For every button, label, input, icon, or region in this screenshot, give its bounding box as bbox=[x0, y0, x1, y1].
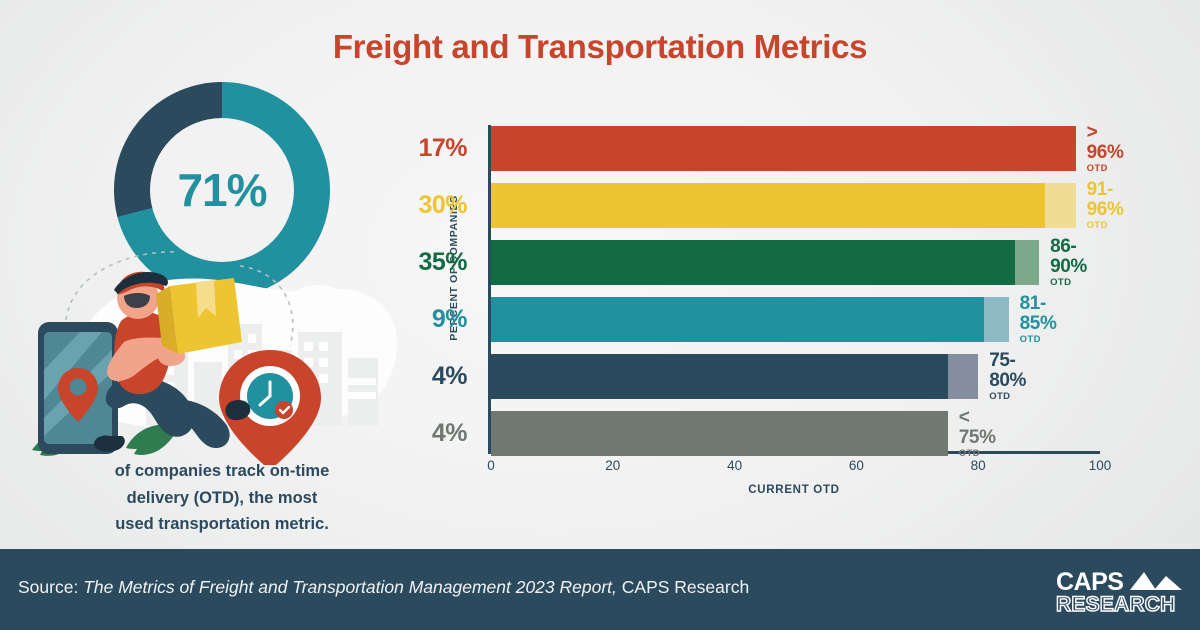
x-tick-label: 60 bbox=[826, 458, 886, 473]
bar-category-label: 81-85%OTD bbox=[1009, 297, 1057, 342]
bar-row: 9%81-85%OTD bbox=[491, 297, 1009, 342]
bar-category-label: < 75%OTD bbox=[948, 411, 996, 456]
bar-percent-label: 30% bbox=[347, 183, 467, 228]
x-tick-label: 100 bbox=[1070, 458, 1130, 473]
bar-row: 4%< 75%OTD bbox=[491, 411, 948, 456]
bar-category-sub: OTD bbox=[989, 391, 1026, 402]
bar-segment-main bbox=[491, 126, 1076, 171]
bar-segment-tip bbox=[948, 354, 978, 399]
source-prefix: Source: bbox=[18, 577, 78, 597]
bar-percent-label: 4% bbox=[347, 411, 467, 456]
bar-percent-label: 4% bbox=[347, 354, 467, 399]
bar-chart: PERCENT OF COMPANIES 17%> 96%OTD30%91-96… bbox=[400, 112, 1180, 502]
bar-category-main: 81-85% bbox=[1020, 294, 1057, 334]
bar-category-main: 91-96% bbox=[1087, 180, 1124, 220]
svg-text:RESEARCH: RESEARCH bbox=[1056, 593, 1175, 614]
y-axis-line bbox=[488, 125, 491, 453]
bar-row: 17%> 96%OTD bbox=[491, 126, 1076, 171]
bar-row: 30%91-96%OTD bbox=[491, 183, 1076, 228]
caption-line-1: of companies track on-time bbox=[52, 458, 392, 485]
bar-category-sub: OTD bbox=[1020, 334, 1057, 345]
x-tick-label: 20 bbox=[583, 458, 643, 473]
svg-text:CAPS: CAPS bbox=[1056, 568, 1123, 596]
bar-segment-tip bbox=[1045, 183, 1075, 228]
page-title: Freight and Transportation Metrics bbox=[0, 28, 1200, 66]
bar-segment-main bbox=[491, 183, 1045, 228]
bar-category-sub: OTD bbox=[1087, 163, 1124, 174]
infographic-canvas: Freight and Transportation Metrics 71% bbox=[0, 0, 1200, 630]
bar-category-label: 86-90%OTD bbox=[1039, 240, 1087, 285]
bar-segment-tip bbox=[1015, 240, 1039, 285]
bar-category-main: < 75% bbox=[959, 408, 996, 448]
x-tick-label: 0 bbox=[461, 458, 521, 473]
caption-line-3: used transportation metric. bbox=[52, 511, 392, 538]
bar-category-main: 86-90% bbox=[1050, 237, 1087, 277]
caption-line-2: delivery (OTD), the most bbox=[52, 485, 392, 512]
source-title: The Metrics of Freight and Transportatio… bbox=[83, 577, 617, 597]
bar-segment-main bbox=[491, 297, 984, 342]
donut-caption: of companies track on-time delivery (OTD… bbox=[52, 458, 392, 538]
bar-category-sub: OTD bbox=[1050, 277, 1087, 288]
bar-category-main: 75-80% bbox=[989, 351, 1026, 391]
source-publisher: CAPS Research bbox=[622, 577, 749, 597]
bar-segment-tip bbox=[984, 297, 1008, 342]
caps-research-logo: CAPS RESEARCH bbox=[1056, 566, 1182, 614]
bar-category-main: > 96% bbox=[1087, 123, 1124, 163]
bar-category-sub: OTD bbox=[1087, 220, 1124, 231]
bar-percent-label: 17% bbox=[347, 126, 467, 171]
bar-category-label: 75-80%OTD bbox=[978, 354, 1026, 399]
bar-segment-main bbox=[491, 354, 948, 399]
bar-percent-label: 35% bbox=[347, 240, 467, 285]
bar-segment-main bbox=[491, 240, 1015, 285]
bar-segment-main bbox=[491, 411, 948, 456]
bar-row: 4%75-80%OTD bbox=[491, 354, 978, 399]
bar-category-label: > 96%OTD bbox=[1076, 126, 1124, 171]
x-tick-label: 40 bbox=[705, 458, 765, 473]
bar-category-label: 91-96%OTD bbox=[1076, 183, 1124, 228]
donut-center: 71% bbox=[150, 118, 294, 262]
donut-value-label: 71% bbox=[177, 163, 266, 217]
bar-row: 35%86-90%OTD bbox=[491, 240, 1039, 285]
x-tick-label: 80 bbox=[948, 458, 1008, 473]
source-credit: Source: The Metrics of Freight and Trans… bbox=[18, 577, 749, 598]
x-axis-label: CURRENT OTD bbox=[488, 484, 1100, 496]
bar-percent-label: 9% bbox=[347, 297, 467, 342]
footer-bar: Source: The Metrics of Freight and Trans… bbox=[0, 549, 1200, 630]
